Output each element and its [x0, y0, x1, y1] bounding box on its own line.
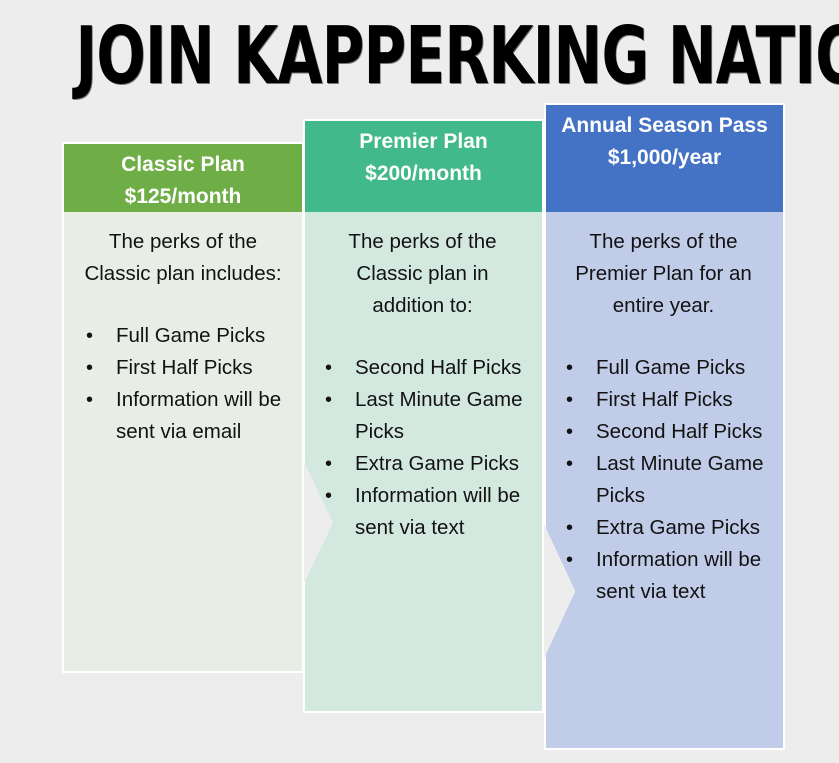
perk-label: Extra Game Picks [596, 516, 760, 539]
list-item: •Extra Game Picks [544, 512, 773, 544]
bullet-icon: • [566, 384, 573, 416]
bullet-icon: • [325, 480, 332, 512]
perk-label: Full Game Picks [596, 356, 745, 379]
plan-intro-classic: The perks of the Classic plan includes: [64, 212, 302, 290]
perk-label: First Half Picks [116, 356, 253, 379]
list-item: •Full Game Picks [544, 352, 773, 384]
perk-list-premier: •Second Half Picks •Last Minute Game Pic… [303, 352, 542, 544]
bullet-icon: • [325, 384, 332, 416]
bullet-icon: • [86, 320, 93, 352]
bullet-icon: • [86, 384, 93, 416]
perk-label: Second Half Picks [355, 356, 521, 379]
plan-header-classic: Classic Plan $125/month [62, 142, 304, 212]
list-item: •Information will be sent via email [64, 384, 292, 448]
perk-label: Extra Game Picks [355, 452, 519, 475]
plan-body-premier: The perks of the Classic plan in additio… [303, 212, 544, 713]
plan-name-premier: Premier Plan [305, 126, 542, 158]
plan-card-premier[interactable]: Premier Plan $200/month The perks of the… [303, 119, 544, 713]
perk-label: Last Minute Game Picks [355, 388, 523, 443]
bullet-icon: • [325, 352, 332, 384]
plan-price-annual: $1,000/year [546, 142, 783, 174]
perk-label: Full Game Picks [116, 324, 265, 347]
plan-card-classic[interactable]: Classic Plan $125/month The perks of the… [62, 142, 304, 673]
perk-label: Information will be sent via text [355, 484, 520, 539]
list-item: •Full Game Picks [64, 320, 292, 352]
list-item: •Information will be sent via text [544, 544, 773, 608]
list-item: •Information will be sent via text [303, 480, 532, 544]
plan-body-annual: The perks of the Premier Plan for an ent… [544, 212, 785, 750]
plan-intro-annual: The perks of the Premier Plan for an ent… [544, 212, 783, 322]
bullet-icon: • [566, 416, 573, 448]
bullet-icon: • [566, 352, 573, 384]
perk-list-annual: •Full Game Picks •First Half Picks •Seco… [544, 352, 783, 608]
plan-intro-premier: The perks of the Classic plan in additio… [303, 212, 542, 322]
plan-card-annual[interactable]: Annual Season Pass $1,000/year The perks… [544, 103, 785, 750]
plan-header-annual: Annual Season Pass $1,000/year [544, 103, 785, 212]
perk-label: Information will be sent via text [596, 548, 761, 603]
perk-label: Last Minute Game Picks [596, 452, 764, 507]
plan-name-annual: Annual Season Pass [546, 110, 783, 142]
bullet-icon: • [566, 512, 573, 544]
list-item: •Last Minute Game Picks [544, 448, 773, 512]
plan-name-classic: Classic Plan [64, 149, 302, 181]
list-item: •Extra Game Picks [303, 448, 532, 480]
bullet-icon: • [86, 352, 93, 384]
bullet-icon: • [566, 448, 573, 480]
bullet-icon: • [325, 448, 332, 480]
list-item: •Last Minute Game Picks [303, 384, 532, 448]
perk-label: Second Half Picks [596, 420, 762, 443]
perk-list-classic: •Full Game Picks •First Half Picks •Info… [64, 320, 302, 448]
list-item: •Second Half Picks [544, 416, 773, 448]
perk-label: First Half Picks [596, 388, 733, 411]
page-title: JOIN KAPPERKING NATION [76, 8, 764, 104]
list-item: •First Half Picks [544, 384, 773, 416]
list-item: •Second Half Picks [303, 352, 532, 384]
list-item: •First Half Picks [64, 352, 292, 384]
plan-price-premier: $200/month [305, 158, 542, 190]
plan-price-classic: $125/month [64, 181, 302, 213]
perk-label: Information will be sent via email [116, 388, 281, 443]
plan-body-classic: The perks of the Classic plan includes: … [62, 212, 304, 673]
plan-header-premier: Premier Plan $200/month [303, 119, 544, 212]
bullet-icon: • [566, 544, 573, 576]
